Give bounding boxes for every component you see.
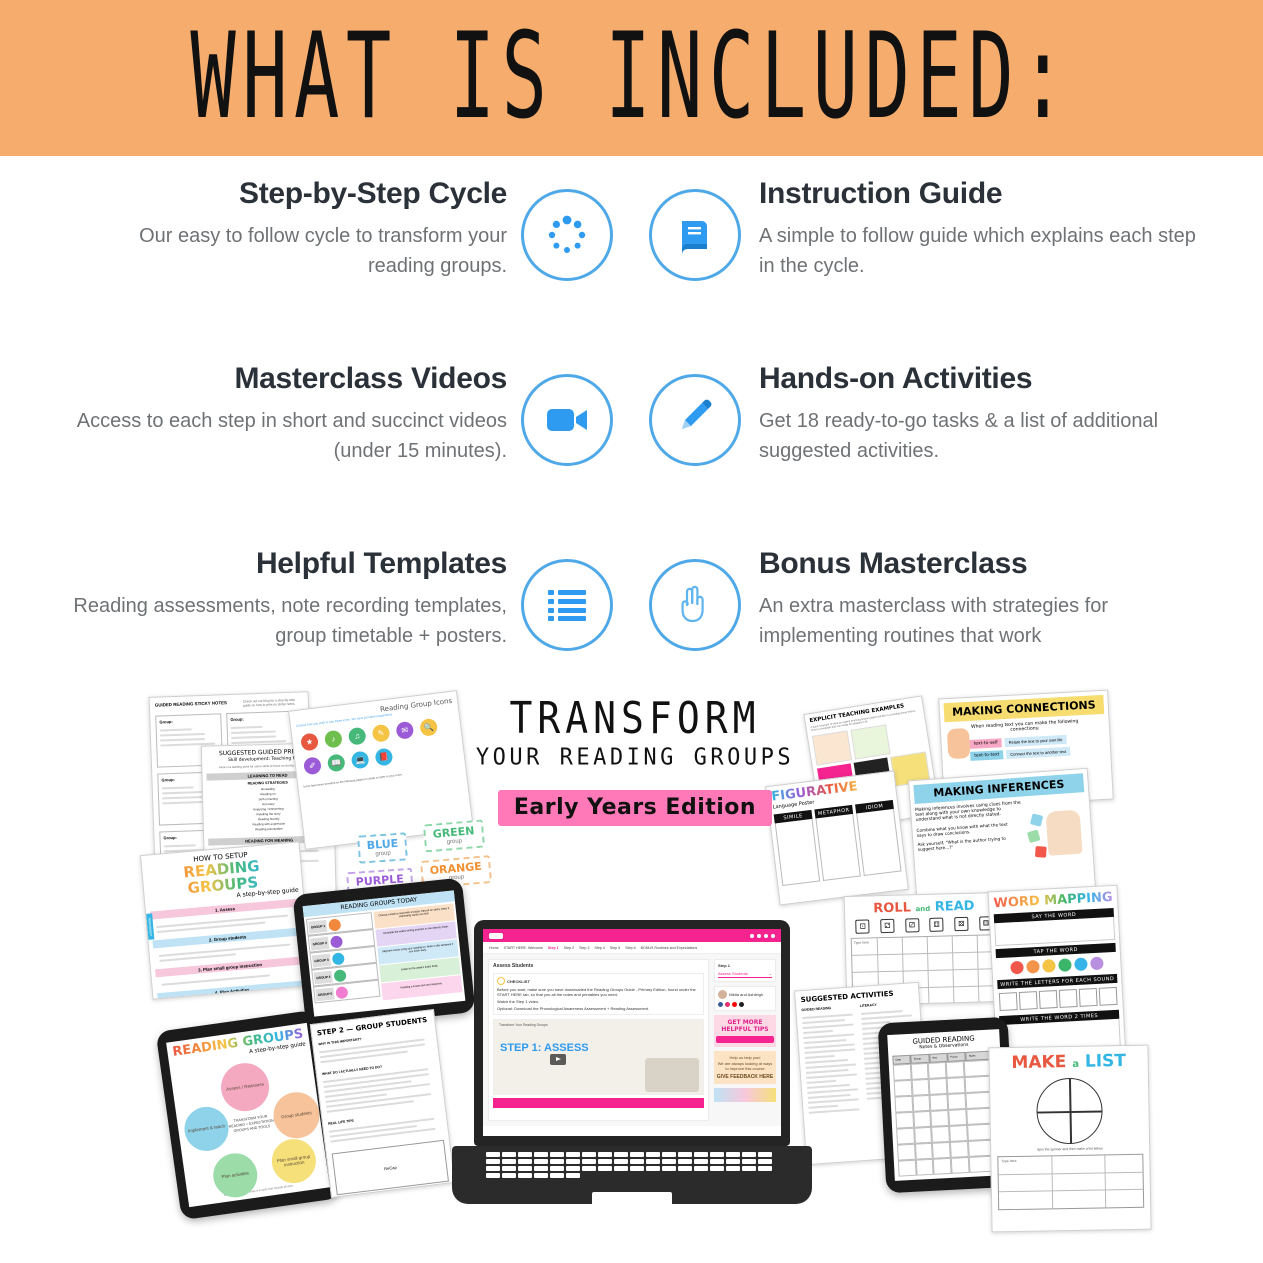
group-row-label: GROUP 5 <box>315 987 334 1001</box>
course-main-panel: Assess Students CHECKLIST Before you sta… <box>488 959 709 1121</box>
puzzle-piece-icon <box>1030 813 1043 826</box>
checklist-item: Watch the Step 1 video. <box>497 999 700 1004</box>
laptop-keyboard <box>486 1152 778 1186</box>
feature-item-masterclass-videos: Masterclass Videos Access to each step i… <box>0 360 631 510</box>
sidebar-select-value[interactable]: Assess Students <box>718 971 748 976</box>
group-row-label: GROUP 4 <box>314 970 333 984</box>
feedback-cta[interactable]: GIVE FEEDBACK HERE <box>716 1074 774 1080</box>
tab-step-6[interactable]: Step 6 <box>625 946 635 950</box>
feature-item-bonus-masterclass: Bonus Masterclass An extra masterclass w… <box>631 545 1262 695</box>
collage-title-main: TRANSFORM <box>440 695 830 741</box>
poster-intro: Making inferences involves using clues f… <box>915 800 1024 822</box>
feature-title: Instruction Guide <box>759 175 1197 213</box>
group-icon: ✉ <box>395 721 414 740</box>
die-icon: ⚁ <box>880 919 894 933</box>
sidebar-people-name: Nikita and Ashleigh <box>729 992 763 997</box>
tab-home[interactable]: Home <box>489 946 499 950</box>
tab-step-1[interactable]: Step 1 <box>548 946 559 950</box>
connection-desc: Connect the text to another text <box>1006 747 1070 759</box>
collage-edition-badge: Early Years Edition <box>498 790 772 826</box>
group-label-blue: BLUE group <box>357 832 408 863</box>
feature-row: Step-by-Step Cycle Our easy to follow cy… <box>0 175 1263 325</box>
sound-dot <box>1074 957 1088 971</box>
collage-title-sub: YOUR READING GROUPS <box>440 743 830 772</box>
group-row-label: GROUP 3 <box>312 953 331 967</box>
pencil-icon <box>649 374 741 466</box>
cycle-node: Group students <box>271 1089 323 1141</box>
connection-desc: Relate the text to your own life <box>1004 735 1066 747</box>
type-here-placeholder[interactable]: Type here <box>854 940 869 944</box>
peace-hand-icon <box>649 559 741 651</box>
checklist-bullet-icon <box>497 977 505 985</box>
poster-title-part-2: LIST <box>1085 1051 1126 1072</box>
play-button-icon[interactable] <box>550 1054 566 1065</box>
puzzle-piece-icon <box>1027 829 1041 843</box>
brand-logo-icon <box>489 933 503 939</box>
group-icon: ★ <box>300 733 319 752</box>
tab-step-4[interactable]: Step 4 <box>594 946 604 950</box>
group-icon: ✐ <box>303 756 322 775</box>
course-body: Assess Students CHECKLIST Before you sta… <box>483 954 781 1126</box>
laptop-mockup: Home START HERE: Welcome Step 1 Step 2 S… <box>452 920 812 1220</box>
die-icon: ⚂ <box>905 918 919 932</box>
cycle-node: Assess / Reassess <box>218 1060 272 1114</box>
making-inferences-poster: MAKING INFERENCES Making inferences invo… <box>908 768 1096 900</box>
group-icon: ♪ <box>324 730 343 749</box>
sidebar-people-card: Nikita and Ashleigh <box>714 986 776 1011</box>
cycle-dots-icon <box>521 189 613 281</box>
feedback-line-2: We are always looking at ways to improve… <box>716 1061 774 1072</box>
header-banner: WHAT IS INCLUDED: <box>0 0 1263 156</box>
video-title: STEP 1: ASSESS <box>500 1042 589 1054</box>
sidebar-step-title: Step 1 <box>718 963 772 968</box>
feature-desc: A simple to follow guide which explains … <box>759 221 1197 281</box>
poster-note: Spin the spinner and then make a list be… <box>997 1146 1143 1153</box>
how-to-setup-sheet: HOW TO SETUP READING GROUPS A step-by-st… <box>140 841 312 999</box>
collage-title: TRANSFORM YOUR READING GROUPS Early Year… <box>440 698 830 826</box>
feature-item-hands-on-activities: Hands-on Activities Get 18 ready-to-go t… <box>631 360 1262 510</box>
video-thumbnail[interactable]: Transform Your Reading Groups STEP 1: AS… <box>493 1019 704 1095</box>
feature-title: Hands-on Activities <box>759 360 1197 398</box>
page-title: WHAT IS INCLUDED: <box>191 19 1073 138</box>
tablet-screen: READING GROUPS TODAY GROUP 1 GROUP 2 GRO… <box>303 890 466 1016</box>
instagram-icon[interactable] <box>725 1002 730 1007</box>
book-icon <box>649 189 741 281</box>
course-page-title: Assess Students <box>493 964 704 969</box>
feature-item-instruction-guide: Instruction Guide A simple to follow gui… <box>631 175 1262 325</box>
group-icon: 📖 <box>327 753 346 772</box>
table-body <box>893 1059 1003 1176</box>
type-here-placeholder[interactable]: Type here <box>1001 1159 1016 1163</box>
feature-item-step-by-step-cycle: Step-by-Step Cycle Our easy to follow cy… <box>0 175 631 325</box>
student-illustration <box>947 728 971 759</box>
feature-desc: Access to each step in short and succinc… <box>69 406 507 466</box>
cycle-node: Plan small group instruction <box>269 1136 319 1186</box>
make-a-list-sheet: MAKE a LIST Spin the spinner and then ma… <box>988 1045 1151 1233</box>
feature-title: Helpful Templates <box>69 545 507 583</box>
feature-row: Helpful Templates Reading assessments, n… <box>0 545 1263 695</box>
chevron-down-icon[interactable]: ⌄ <box>769 971 772 976</box>
sound-dot <box>1042 959 1056 973</box>
course-tabs: Home START HERE: Welcome Step 1 Step 2 S… <box>483 942 781 954</box>
feature-title: Bonus Masterclass <box>759 545 1197 583</box>
site-navbar <box>483 929 781 942</box>
sidebar-step-card: Step 1 Assess Students ⌄ <box>714 959 776 982</box>
tab-step-5[interactable]: Step 5 <box>610 946 620 950</box>
group-icon: 📕 <box>374 748 393 767</box>
tab-step-2[interactable]: Step 2 <box>564 946 574 950</box>
laptop-screen: Home START HERE: Welcome Step 1 Step 2 S… <box>483 929 781 1136</box>
navbar-icons <box>750 934 775 938</box>
course-sidebar: Step 1 Assess Students ⌄ Nikita and Ashl… <box>714 959 776 1121</box>
youtube-icon[interactable] <box>732 1002 737 1007</box>
poster-title-part-1: ROLL <box>873 900 911 916</box>
sheet-note: Check out our blog for a step-by-step gu… <box>243 697 303 707</box>
group-icon: 💻 <box>351 750 370 769</box>
poster-title: MAKING INFERENCES <box>913 773 1084 804</box>
tips-title: GET MORE HELPFUL TIPS <box>716 1019 774 1033</box>
group-row-label: GROUP 2 <box>310 936 329 950</box>
die-icon: ⚀ <box>856 919 870 933</box>
feedback-banner[interactable]: Help us help you! We are always looking … <box>714 1051 776 1084</box>
spinner-wheel <box>1036 1077 1103 1144</box>
sound-dot <box>1010 961 1024 975</box>
video-camera-icon <box>521 374 613 466</box>
doc-box-label: ReCap <box>384 1164 397 1170</box>
tab-step-3[interactable]: Step 3 <box>579 946 589 950</box>
feature-item-helpful-templates: Helpful Templates Reading assessments, n… <box>0 545 631 695</box>
poster-title-part-1: MAKE <box>1011 1052 1066 1073</box>
group-icon: 🔍 <box>419 718 438 737</box>
student-illustration <box>1046 810 1083 856</box>
tab-start-here[interactable]: START HERE: Welcome <box>504 946 543 950</box>
list-icon <box>521 559 613 651</box>
avatar <box>718 990 727 999</box>
die-icon: ⚄ <box>954 917 968 931</box>
poster-title-a: a <box>1072 1059 1079 1070</box>
feature-grid: Step-by-Step Cycle Our easy to follow cy… <box>0 165 1263 685</box>
feature-desc: Reading assessments, note recording temp… <box>69 591 507 651</box>
sound-dot <box>1058 958 1072 972</box>
tab-bonus[interactable]: BONUS Routines and Expectations <box>641 946 698 950</box>
reading-groups-today-tablet: READING GROUPS TODAY GROUP 1 GROUP 2 GRO… <box>292 877 475 1029</box>
laptop-trackpad <box>592 1192 672 1208</box>
feature-row: Masterclass Videos Access to each step i… <box>0 360 1263 510</box>
product-collage: GUIDED READING STICKY NOTES Check out ou… <box>0 686 1263 1263</box>
connection-label: text-to-self <box>969 738 1002 749</box>
feature-desc: Our easy to follow cycle to transform yo… <box>69 221 507 281</box>
poster-title-part-2: READ <box>935 899 975 915</box>
feature-desc: An extra masterclass with strategies for… <box>759 591 1197 651</box>
die-icon: ⚃ <box>929 918 943 932</box>
poster-title-and: and <box>915 905 930 913</box>
facebook-icon[interactable] <box>718 1002 723 1007</box>
puzzle-piece-icon <box>1035 846 1047 858</box>
cycle-center-text: TRANSFORM YOUR READING + EXPECTATION GRO… <box>226 1113 278 1135</box>
group-icon: ♫ <box>348 727 367 746</box>
laptop-lid: Home START HERE: Welcome Step 1 Step 2 S… <box>474 920 790 1146</box>
group-row-label: GROUP 1 <box>308 919 327 933</box>
checklist-item: Optional: Download the Phonological Awar… <box>497 1006 700 1011</box>
feature-title: Step-by-Step Cycle <box>69 175 507 213</box>
video-caption: Transform Your Reading Groups <box>494 1020 703 1030</box>
poster-bullet: Ask yourself, "What is the author trying… <box>917 835 1017 852</box>
feature-desc: Get 18 ready-to-go tasks & a list of add… <box>759 406 1197 466</box>
tiktok-icon[interactable] <box>739 1002 744 1007</box>
sound-dot <box>1090 957 1104 971</box>
connection-label: text-to-text <box>970 750 1003 761</box>
promo-graphic: WHAT IS INCLUDED: Step-by-Step Cycle Our… <box>0 0 1263 1263</box>
sound-dot <box>1026 960 1040 974</box>
helpful-tips-banner[interactable]: GET MORE HELPFUL TIPS <box>714 1015 776 1047</box>
tablet-screen: READING GROUPS A step-by-step guide Asse… <box>166 1023 330 1207</box>
feature-title: Masterclass Videos <box>69 360 507 398</box>
group-icon: ✎ <box>372 724 391 743</box>
step2-document: STEP 2 — GROUP STUDENTS WHY IS THIS IMPO… <box>310 1009 455 1198</box>
checklist-title: CHECKLIST <box>507 979 530 984</box>
checklist-item: Before you start, make sure you have dow… <box>497 987 700 997</box>
cycle-node: Implement & teach <box>182 1104 232 1154</box>
